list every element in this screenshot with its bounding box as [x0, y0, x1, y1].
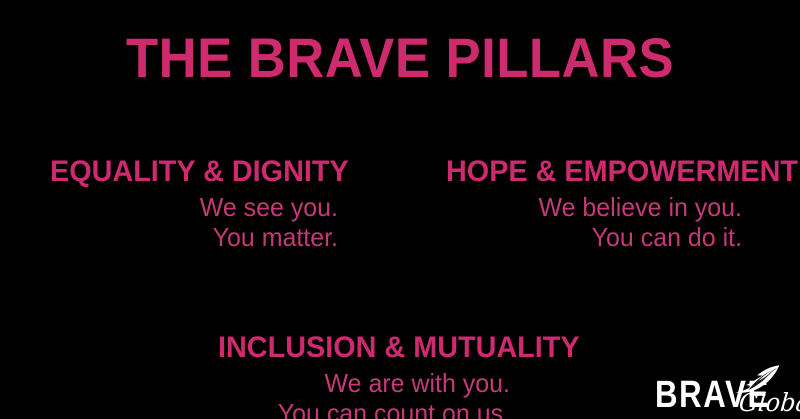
brave-global-logo: BRAVE Global: [655, 362, 800, 419]
pillar-inclusion-and-mutuality: INCLUSION & MUTUALITY We are with you. Y…: [218, 332, 590, 419]
pillar-statement-line-1: We see you.: [62, 192, 338, 222]
pillar-hope-and-empowerment: HOPE & EMPOWERMENT We believe in you. Yo…: [446, 156, 784, 252]
pillar-statement-line-2: You can count on us.: [230, 398, 510, 419]
pillar-heading: INCLUSION & MUTUALITY: [218, 332, 575, 364]
pillar-statement-line-2: You matter.: [62, 222, 338, 252]
pillar-statements: We believe in you. You can do it.: [446, 192, 784, 252]
pillar-heading: EQUALITY & DIGNITY: [50, 156, 348, 188]
pillar-statement-line-1: We are with you.: [230, 368, 510, 398]
pillar-equality-and-dignity: EQUALITY & DIGNITY We see you. You matte…: [50, 156, 360, 252]
pillar-statements: We are with you. You can count on us.: [218, 368, 590, 419]
pillar-heading: HOPE & EMPOWERMENT: [446, 156, 770, 188]
logo-script-text: Global: [738, 390, 800, 416]
page-title: THE BRAVE PILLARS: [24, 28, 776, 88]
pillar-statement-line-2: You can do it.: [458, 222, 742, 252]
brave-pillars-poster: THE BRAVE PILLARS EQUALITY & DIGNITY We …: [0, 0, 800, 419]
pillar-statement-line-1: We believe in you.: [458, 192, 742, 222]
pillar-statements: We see you. You matter.: [50, 192, 360, 252]
